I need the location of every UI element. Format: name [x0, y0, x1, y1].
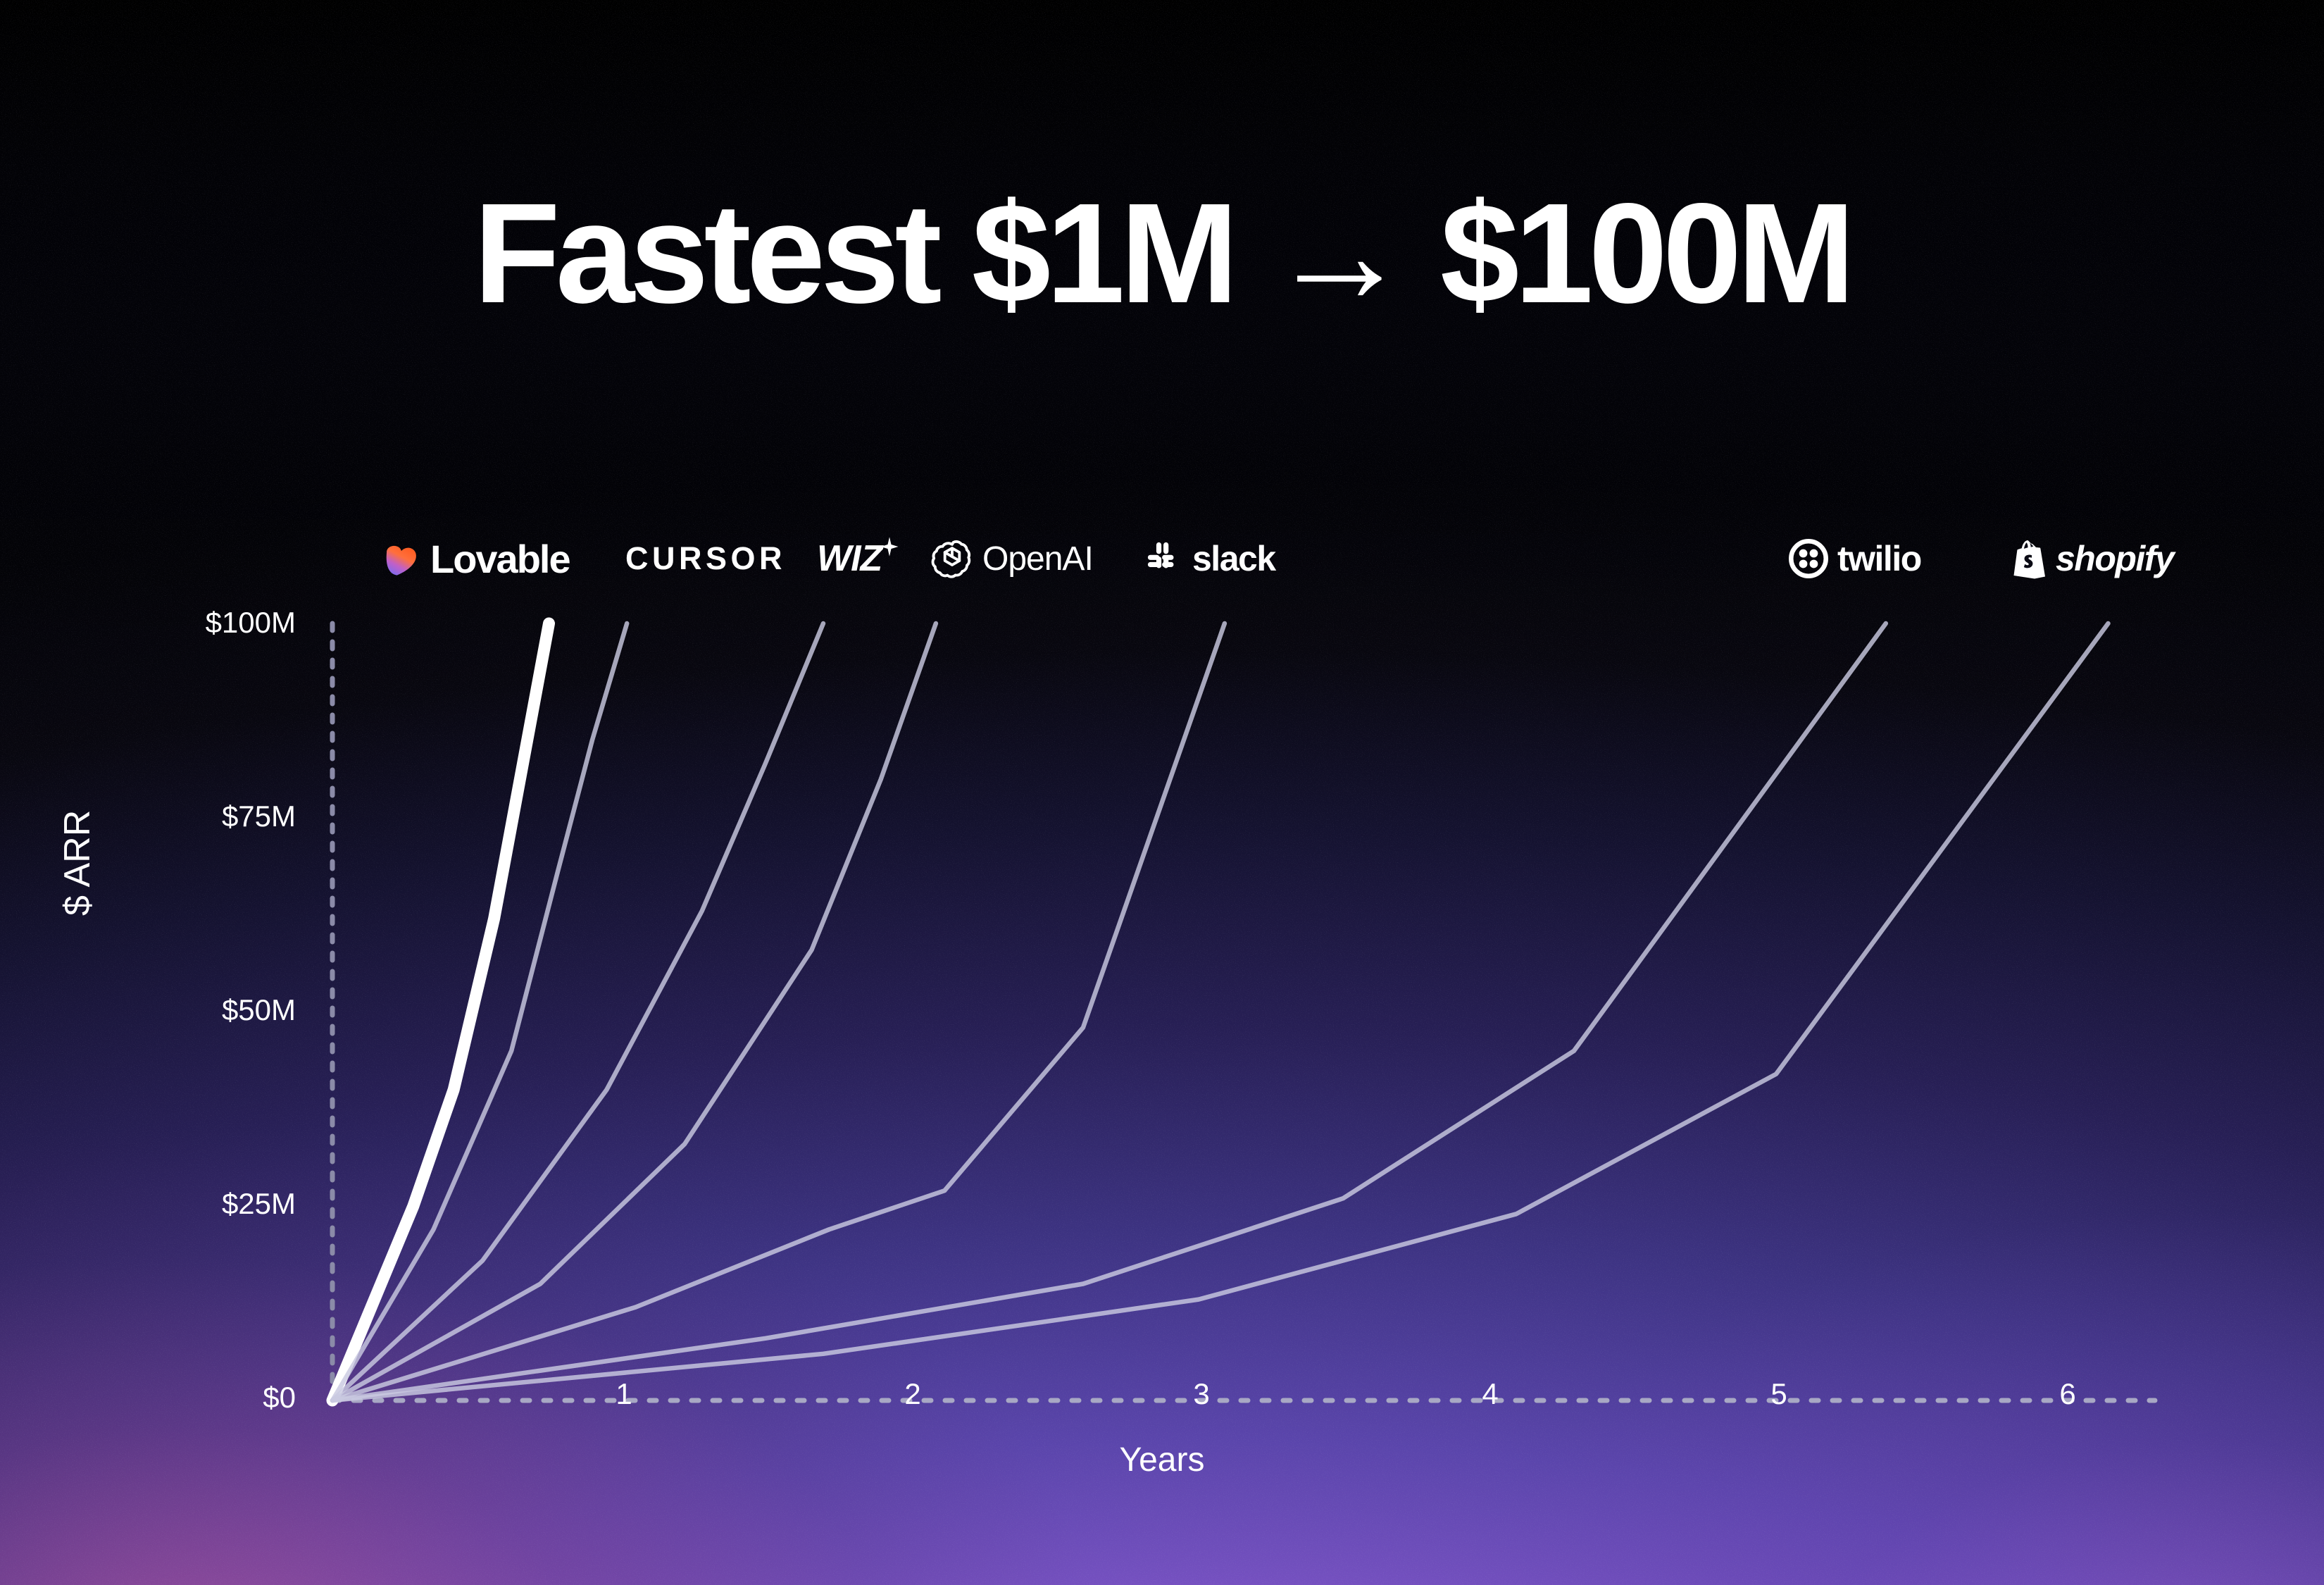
series-line-twilio: [332, 623, 1886, 1400]
x-tick-1: 1: [608, 1377, 639, 1411]
y-tick-0: $0: [14, 1381, 296, 1415]
plot-area: $100M $75M $50M $25M $0 1 2 3 4 5 6 $ AR…: [0, 0, 2324, 1585]
y-tick-25m: $25M: [14, 1187, 296, 1221]
x-tick-5: 5: [1763, 1377, 1794, 1411]
x-tick-6: 6: [2052, 1377, 2083, 1411]
y-axis-title: $ ARR: [56, 810, 99, 916]
chart-canvas: Fastest $1M → $100M Lovable CURSOR: [0, 0, 2324, 1585]
x-axis-title: Years: [0, 1441, 2324, 1479]
y-tick-100m: $100M: [14, 606, 296, 640]
x-tick-2: 2: [897, 1377, 928, 1411]
series-line-openai: [332, 623, 936, 1400]
x-tick-3: 3: [1186, 1377, 1217, 1411]
series-lines: [332, 623, 2109, 1400]
series-line-wiz: [332, 623, 823, 1400]
plot-svg: [0, 0, 2324, 1585]
y-tick-50m: $50M: [14, 993, 296, 1027]
x-tick-4: 4: [1475, 1377, 1506, 1411]
series-line-lovable: [332, 623, 549, 1400]
series-line-shopify: [332, 623, 2109, 1400]
